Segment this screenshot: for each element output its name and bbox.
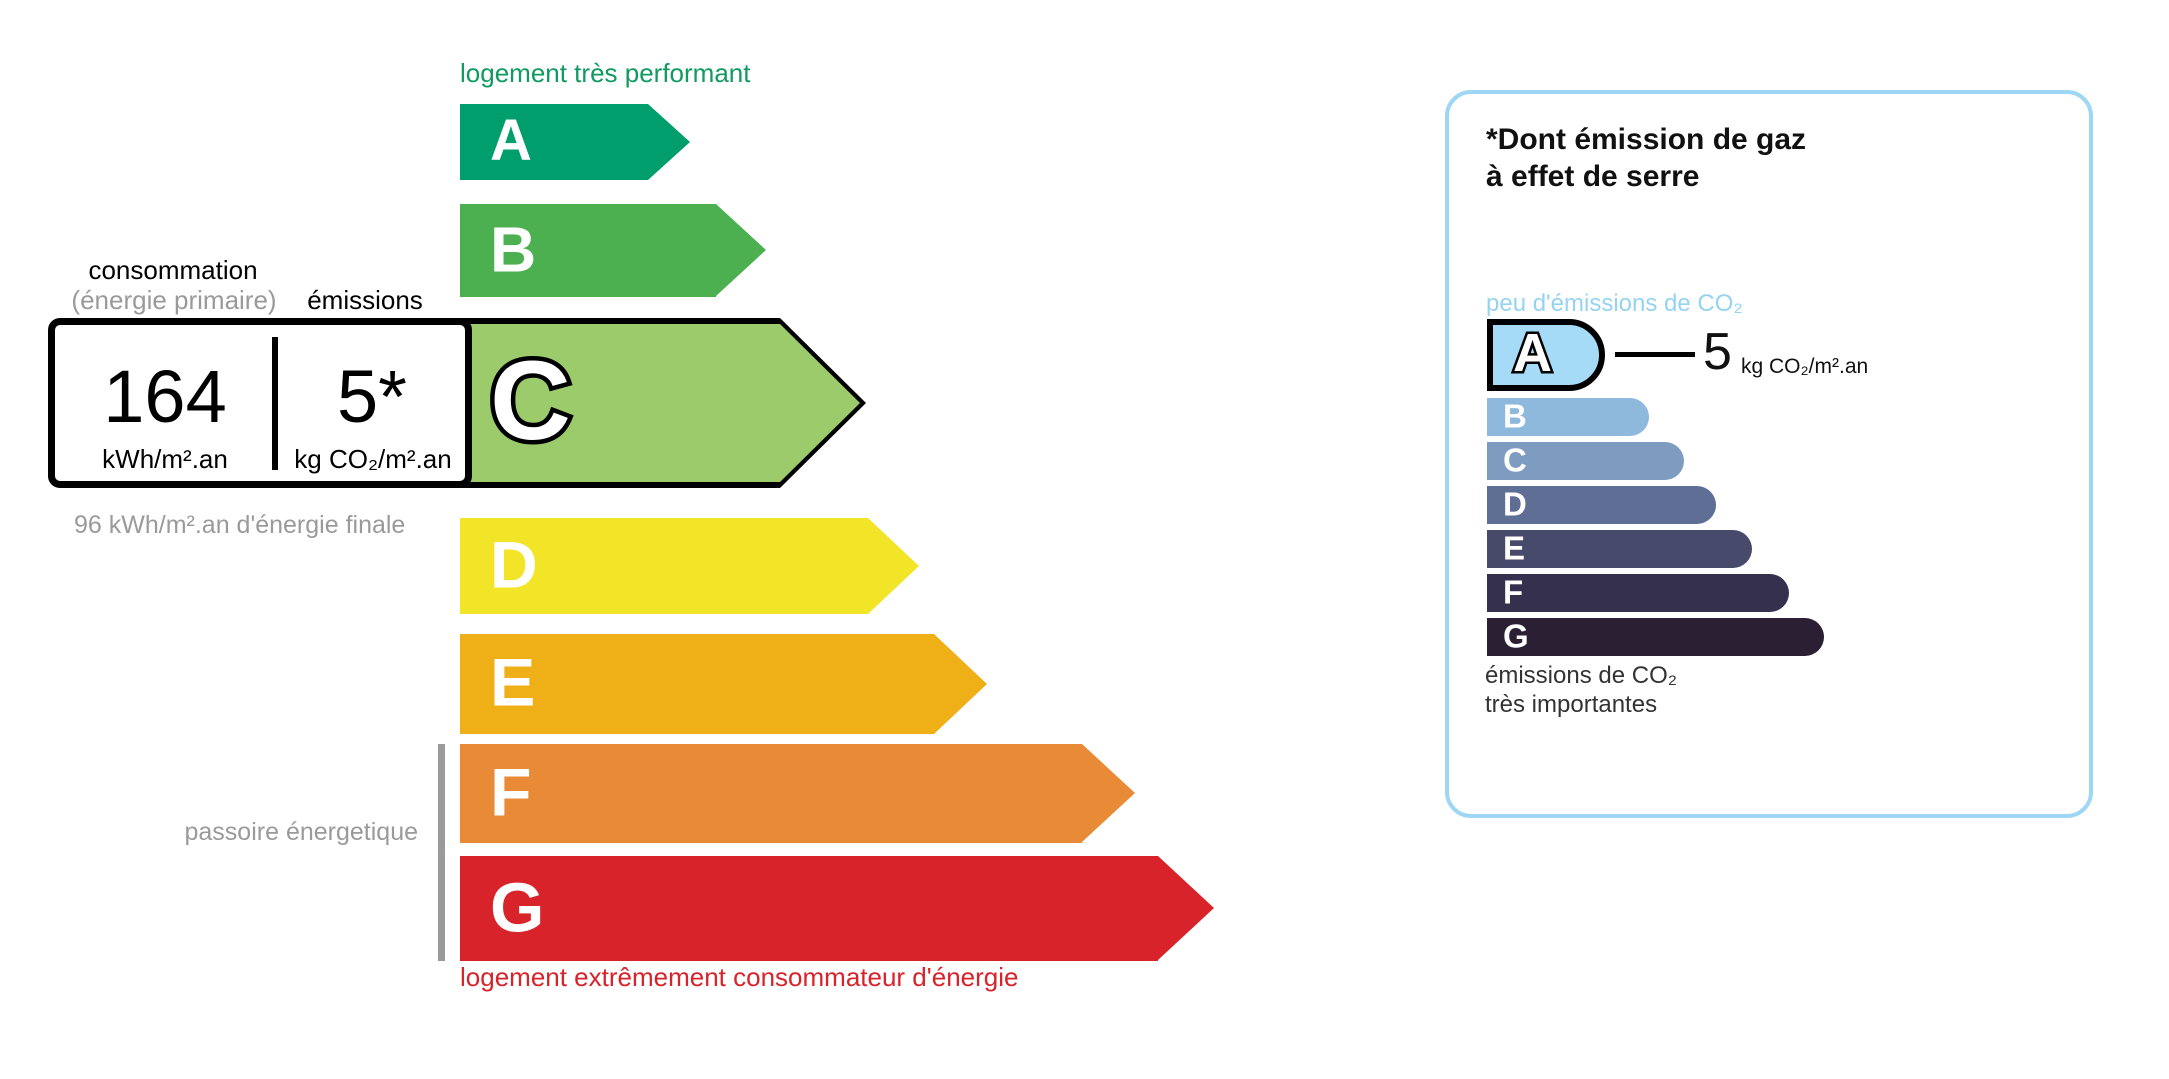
energy-band-g-tip xyxy=(1158,856,1214,960)
energy-band-b-tip xyxy=(716,204,766,296)
energy-band-e-letter: E xyxy=(490,649,535,717)
passoire-bracket-line xyxy=(438,744,445,961)
energy-band-a-tip xyxy=(648,104,690,180)
co2-band-e: E xyxy=(1487,530,1752,568)
co2-band-e-letter: E xyxy=(1503,532,1525,565)
energy-band-f-body xyxy=(460,744,1082,843)
energy-band-d-tip xyxy=(868,518,919,614)
top-caption-label: logement très performant xyxy=(460,58,750,89)
co2-value: 5* xyxy=(282,360,462,434)
co2-band-g: G xyxy=(1487,618,1824,656)
co2-emissions-panel: *Dont émission de gaz à effet de serre p… xyxy=(1445,90,2093,818)
co2-top-caption-label: peu d'émissions de CO₂ xyxy=(1486,290,1743,318)
co2-band-f-letter: F xyxy=(1503,576,1523,609)
co2-bottom-caption-label: émissions de CO₂ très importantes xyxy=(1485,662,2005,720)
energy-band-e-tip xyxy=(934,634,987,734)
co2-band-c: C xyxy=(1487,442,1684,480)
energy-value-unit: kWh/m².an xyxy=(60,446,270,472)
bottom-caption-label: logement extrêmement consommateur d'éner… xyxy=(460,962,1018,993)
co2-panel-value-unit: kg CO₂/m².an xyxy=(1741,356,1868,377)
co2-band-d-letter: D xyxy=(1503,488,1527,521)
energy-band-f-tip xyxy=(1082,744,1135,842)
energy-band-b-letter: B xyxy=(490,217,536,281)
energy-band-g-body xyxy=(460,856,1158,961)
co2-band-g-letter: G xyxy=(1503,620,1529,653)
energy-band-c-letter: C xyxy=(490,345,571,457)
emissions-header: émissions xyxy=(300,286,430,315)
energy-performance-chart: logement très performant A B C D E F xyxy=(0,0,1300,1079)
energy-band-a-body xyxy=(460,104,648,180)
co2-value-unit: kg CO₂/m².an xyxy=(278,446,468,472)
co2-band-f: F xyxy=(1487,574,1789,612)
co2-band-a-badge: A xyxy=(1487,319,1605,391)
consumption-header-line1: consommation xyxy=(68,256,278,285)
co2-panel-value: 5 xyxy=(1703,326,1732,378)
co2-value-leader-line xyxy=(1615,352,1695,357)
consumption-header-line2: (énergie primaire) xyxy=(44,286,304,315)
co2-band-a-letter: A xyxy=(1513,326,1552,380)
energy-band-f-letter: F xyxy=(490,758,532,826)
co2-band-d: D xyxy=(1487,486,1716,524)
final-energy-note: 96 kWh/m².an d'énergie finale xyxy=(74,510,414,540)
co2-panel-title: *Dont émission de gaz à effet de serre xyxy=(1486,122,2046,195)
co2-band-b-letter: B xyxy=(1503,400,1527,433)
co2-band-c-letter: C xyxy=(1503,444,1527,477)
energy-band-g-letter: G xyxy=(490,872,544,942)
energy-value: 164 xyxy=(70,360,260,434)
energy-band-c-tip xyxy=(780,324,860,482)
co2-band-b: B xyxy=(1487,398,1649,436)
energy-band-d-letter: D xyxy=(490,532,538,598)
energy-band-a-letter: A xyxy=(490,112,532,170)
passoire-label: passoire énergetique xyxy=(140,817,418,847)
